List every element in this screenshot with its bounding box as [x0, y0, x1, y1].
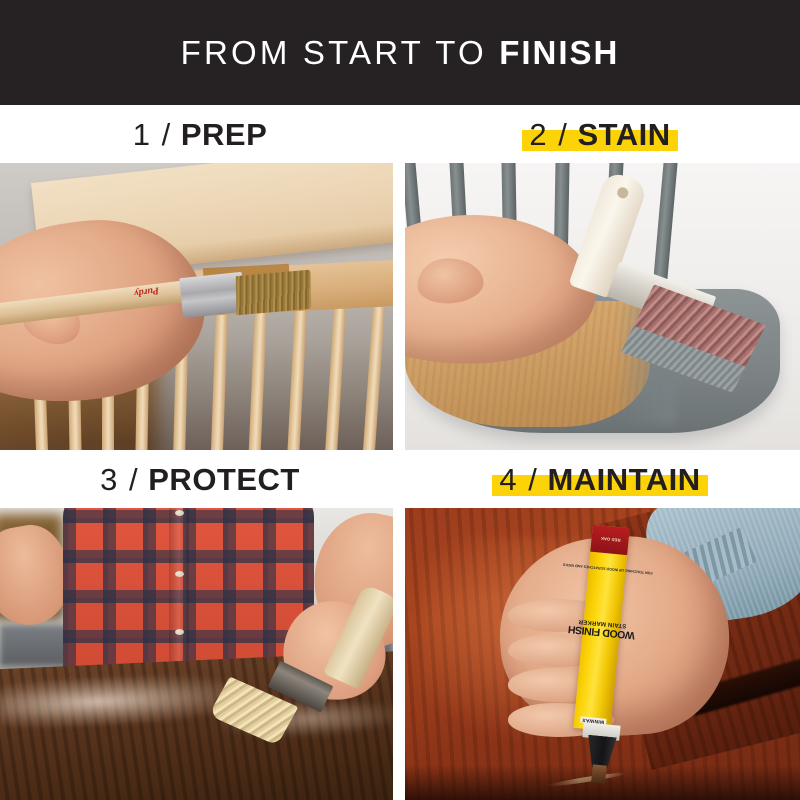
- photo-prep-scene: Purdy: [0, 163, 393, 450]
- photo-panel-maintain: RED OAK FOR TOUCHING UP WOOD SCRATCHES A…: [405, 508, 800, 800]
- stain-knuckles: [415, 255, 484, 304]
- photo-stain-scene: [405, 163, 800, 450]
- photo-panel-prep: Purdy: [0, 163, 393, 450]
- page-title-light: FROM START TO: [181, 34, 487, 71]
- photo-maintain-scene: RED OAK FOR TOUCHING UP WOOD SCRATCHES A…: [405, 508, 800, 800]
- step-name-1: PREP: [181, 117, 267, 152]
- step-separator-1: /: [160, 117, 173, 152]
- page-title: FROM START TO FINISH: [181, 34, 620, 72]
- step-label-protect: 3 / PROTECT: [93, 462, 307, 497]
- marker-cap-band: RED OAK: [590, 524, 630, 554]
- step-name-2: STAIN: [577, 117, 670, 152]
- step-number-2: 2: [529, 117, 547, 152]
- step-label-row-4: 4 / MAINTAIN: [400, 450, 800, 508]
- prep-brush-bristles: [236, 270, 311, 315]
- step-label-stain: 2 / STAIN: [522, 117, 677, 152]
- step-number-3: 3: [100, 462, 118, 497]
- step-separator-2: /: [556, 117, 569, 152]
- step-label-row-2: 2 / STAIN: [400, 105, 800, 163]
- step-label-row-1: 1 / PREP: [0, 105, 400, 163]
- marker-cap-label: RED OAK: [600, 536, 620, 543]
- photo-panel-stain: [405, 163, 800, 450]
- step-separator-4: /: [526, 462, 539, 497]
- protect-shirt-button: [175, 510, 184, 516]
- header-banner: FROM START TO FINISH: [0, 0, 800, 105]
- purdy-logo-text: Purdy: [133, 285, 159, 299]
- step-number-1: 1: [133, 117, 151, 152]
- step-label-maintain: 4 / MAINTAIN: [492, 462, 707, 497]
- stain-brush-hang-hole: [615, 186, 629, 200]
- step-name-4: MAINTAIN: [547, 462, 700, 497]
- step-label-prep: 1 / PREP: [126, 117, 275, 152]
- protect-shirt-placket: [169, 508, 189, 683]
- step-separator-3: /: [127, 462, 140, 497]
- photo-protect-scene: [0, 508, 393, 800]
- step-label-row-3: 3 / PROTECT: [0, 450, 400, 508]
- poster: FROM START TO FINISH 1 / PREP 2 / STAIN: [0, 0, 800, 800]
- step-name-3: PROTECT: [148, 462, 300, 497]
- step-number-4: 4: [499, 462, 517, 497]
- maintain-bottom-shadow: [405, 765, 800, 800]
- page-title-bold: FINISH: [499, 34, 619, 71]
- photo-panel-protect: [0, 508, 393, 800]
